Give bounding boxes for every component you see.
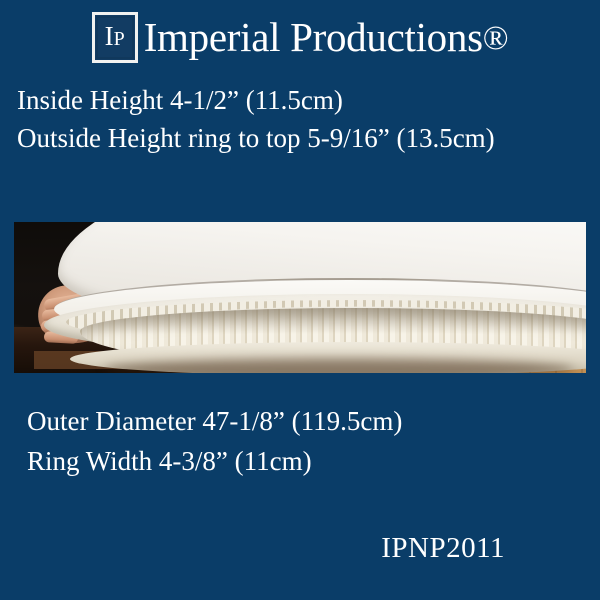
- imperial-productions-logo-icon: IP: [92, 12, 138, 63]
- spec-outside-height: Outside Height ring to top 5-9/16” (13.5…: [17, 119, 600, 157]
- photo-scene: [14, 222, 586, 373]
- brand-name-text: Imperial Productions: [144, 14, 483, 60]
- spec-outer-diameter: Outer Diameter 47-1/8” (119.5cm): [27, 401, 600, 441]
- logo-monogram-p: P: [114, 28, 125, 50]
- spec-inside-height: Inside Height 4-1/2” (11.5cm): [17, 81, 600, 119]
- product-photo: [14, 222, 586, 373]
- product-code: IPNP2011: [381, 531, 505, 566]
- brand-inner: IP Imperial Productions®: [92, 12, 509, 63]
- logo-monogram-text: IP: [105, 23, 125, 50]
- spec-ring-width: Ring Width 4-3/8” (11cm): [27, 441, 600, 481]
- logo-monogram-i: I: [105, 21, 114, 51]
- brand-name: Imperial Productions®: [144, 17, 509, 58]
- spec-list-bottom: Outer Diameter 47-1/8” (119.5cm) Ring Wi…: [27, 401, 600, 481]
- dome-cast-shadow: [104, 358, 574, 373]
- brand-header: IP Imperial Productions®: [0, 0, 600, 74]
- registered-trademark-icon: ®: [483, 20, 509, 57]
- spec-list-top: Inside Height 4-1/2” (11.5cm) Outside He…: [17, 81, 600, 157]
